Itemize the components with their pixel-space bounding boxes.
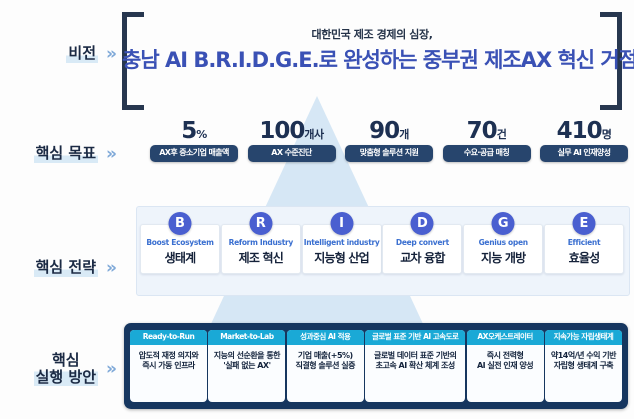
plan-card-ready-to-run[interactable]: Ready-to-Run 압도적 재정 의지와 즉시 가동 인프라 bbox=[130, 330, 207, 402]
goal-unit: 개사 bbox=[304, 128, 323, 141]
strategy-letter-badge: E bbox=[572, 212, 595, 235]
plan-card-global-standard[interactable]: 글로벌 표준 기반 AI 고속도로 글로벌 데이터 표준 기반의 초고속 AI … bbox=[365, 330, 465, 402]
plan-card-title: 성과중심 AI 적용 bbox=[287, 330, 364, 345]
goal-item: 70건 수요·공급 매칭 bbox=[443, 120, 531, 182]
strategy-korean: 지능 개방 bbox=[465, 249, 541, 266]
row-label-goals: 핵심 목표 » bbox=[0, 126, 118, 182]
strategy-english: Genius open bbox=[465, 239, 541, 247]
strategy-letter-badge: I bbox=[330, 212, 353, 235]
plan-card-body: 약14억/년 수익 기반 자립형 생태계 구축 bbox=[545, 345, 622, 403]
goal-number: 410명 bbox=[540, 120, 628, 143]
chevron-right-icon: » bbox=[106, 258, 114, 278]
plan-card-performance-ai[interactable]: 성과중심 AI 적용 기업 매출(+5%) 직결형 솔루션 실증 bbox=[287, 330, 364, 402]
strategy-card-g[interactable]: G Genius open 지능 개방 bbox=[463, 224, 543, 274]
plan-card-title: 글로벌 표준 기반 AI 고속도로 bbox=[365, 330, 465, 345]
plan-card-body: 압도적 재정 의지와 즉시 가동 인프라 bbox=[130, 345, 207, 403]
plan-card-sustainable-ecosystem[interactable]: 지속가능 자립생태계 약14억/년 수익 기반 자립형 생태계 구축 bbox=[545, 330, 622, 402]
plan-list: Ready-to-Run 압도적 재정 의지와 즉시 가동 인프라 Market… bbox=[130, 330, 622, 402]
goal-number: 100개사 bbox=[248, 120, 336, 143]
plan-card-body: 글로벌 데이터 표준 기반의 초고속 AI 확산 체계 조성 bbox=[365, 345, 465, 403]
plan-card-ax-orchestrator[interactable]: AX오케스트레이터 즉시 전력형 AI 실전 인재 양성 bbox=[467, 330, 544, 402]
plan-card-market-to-lab[interactable]: Market-to-Lab 지능의 선순환을 통한 '실패 없는 AX' bbox=[208, 330, 285, 402]
row-label-strategy: 핵심 전략 » bbox=[0, 240, 118, 296]
strategy-letter-badge: D bbox=[411, 212, 434, 235]
vision-subtitle: 대한민국 제조 경제의 심장, bbox=[122, 26, 622, 42]
strategy-list: B Boost Ecosystem 생태계 R Reform Industry … bbox=[140, 212, 624, 290]
goal-caption: 수요·공급 매칭 bbox=[443, 145, 531, 162]
strategy-english: Boost Ecosystem bbox=[142, 239, 218, 247]
plan-card-body: 지능의 선순환을 통한 '실패 없는 AX' bbox=[208, 345, 285, 403]
plan-card-title: Market-to-Lab bbox=[208, 330, 285, 345]
goal-number: 90개 bbox=[345, 120, 433, 143]
strategy-card-d[interactable]: D Deep convert 교차 융합 bbox=[382, 224, 462, 274]
goal-number: 70건 bbox=[443, 120, 531, 143]
strategy-letter-badge: B bbox=[169, 212, 192, 235]
goal-caption: AX 수준진단 bbox=[248, 145, 336, 162]
vision-headline: 충남 AI B.R.I.D.G.E.로 완성하는 중부권 제조AX 혁신 거점 bbox=[122, 44, 622, 74]
chevron-right-icon: » bbox=[106, 359, 114, 379]
goal-unit: 명 bbox=[602, 128, 612, 141]
strategy-korean: 생태계 bbox=[142, 249, 218, 266]
infographic-canvas: 비전 » 대한민국 제조 경제의 심장, 충남 AI B.R.I.D.G.E.로… bbox=[0, 0, 634, 419]
strategy-korean: 지능형 산업 bbox=[304, 249, 380, 266]
strategy-korean: 효율성 bbox=[546, 249, 622, 266]
row-label-vision: 비전 » bbox=[0, 8, 118, 100]
goal-item: 90개 맞춤형 솔루션 지원 bbox=[345, 120, 433, 182]
strategy-card-r[interactable]: R Reform Industry 제조 혁신 bbox=[221, 224, 301, 274]
strategy-card-e[interactable]: E Efficient 효율성 bbox=[544, 224, 624, 274]
plan-label-text: 핵심 실행 방안 bbox=[34, 352, 98, 387]
strategy-card-i[interactable]: I Intelligent industry 지능형 산업 bbox=[302, 224, 382, 274]
plan-card-body: 기업 매출(+5%) 직결형 솔루션 실증 bbox=[287, 345, 364, 403]
goal-unit: % bbox=[196, 128, 207, 141]
chevron-right-icon: » bbox=[106, 144, 114, 164]
chevron-right-icon: » bbox=[106, 44, 114, 64]
strategy-label-text: 핵심 전략 bbox=[34, 259, 98, 276]
vision-label-text: 비전 bbox=[66, 45, 98, 62]
goal-unit: 개 bbox=[399, 128, 409, 141]
goal-item: 5% AX후 중소기업 매출액 bbox=[150, 120, 238, 182]
goals-list: 5% AX후 중소기업 매출액 100개사 AX 수준진단 90개 맞춤형 솔루… bbox=[150, 120, 628, 182]
goal-item: 100개사 AX 수준진단 bbox=[248, 120, 336, 182]
strategy-english: Deep convert bbox=[384, 239, 460, 247]
vision-box: 대한민국 제조 경제의 심장, 충남 AI B.R.I.D.G.E.로 완성하는… bbox=[122, 12, 622, 100]
strategy-english: Reform Industry bbox=[223, 239, 299, 247]
strategy-card-b[interactable]: B Boost Ecosystem 생태계 bbox=[140, 224, 220, 274]
strategy-letter-badge: R bbox=[249, 212, 272, 235]
plan-card-title: AX오케스트레이터 bbox=[467, 330, 544, 345]
goal-caption: AX후 중소기업 매출액 bbox=[150, 145, 238, 162]
strategy-korean: 교차 융합 bbox=[384, 249, 460, 266]
row-label-plan: 핵심 실행 방안 » bbox=[0, 338, 118, 400]
strategy-english: Efficient bbox=[546, 239, 622, 247]
goal-number: 5% bbox=[150, 120, 238, 143]
plan-card-title: Ready-to-Run bbox=[130, 330, 207, 345]
goal-unit: 건 bbox=[497, 128, 507, 141]
plan-card-title: 지속가능 자립생태계 bbox=[545, 330, 622, 345]
plan-card-body: 즉시 전력형 AI 실전 인재 양성 bbox=[467, 345, 544, 403]
goals-label-text: 핵심 목표 bbox=[34, 145, 98, 162]
goal-caption: 실무 AI 인재양성 bbox=[540, 145, 628, 162]
strategy-korean: 제조 혁신 bbox=[223, 249, 299, 266]
strategy-english: Intelligent industry bbox=[304, 239, 380, 247]
strategy-letter-badge: G bbox=[492, 212, 515, 235]
goal-item: 410명 실무 AI 인재양성 bbox=[540, 120, 628, 182]
goal-caption: 맞춤형 솔루션 지원 bbox=[345, 145, 433, 162]
